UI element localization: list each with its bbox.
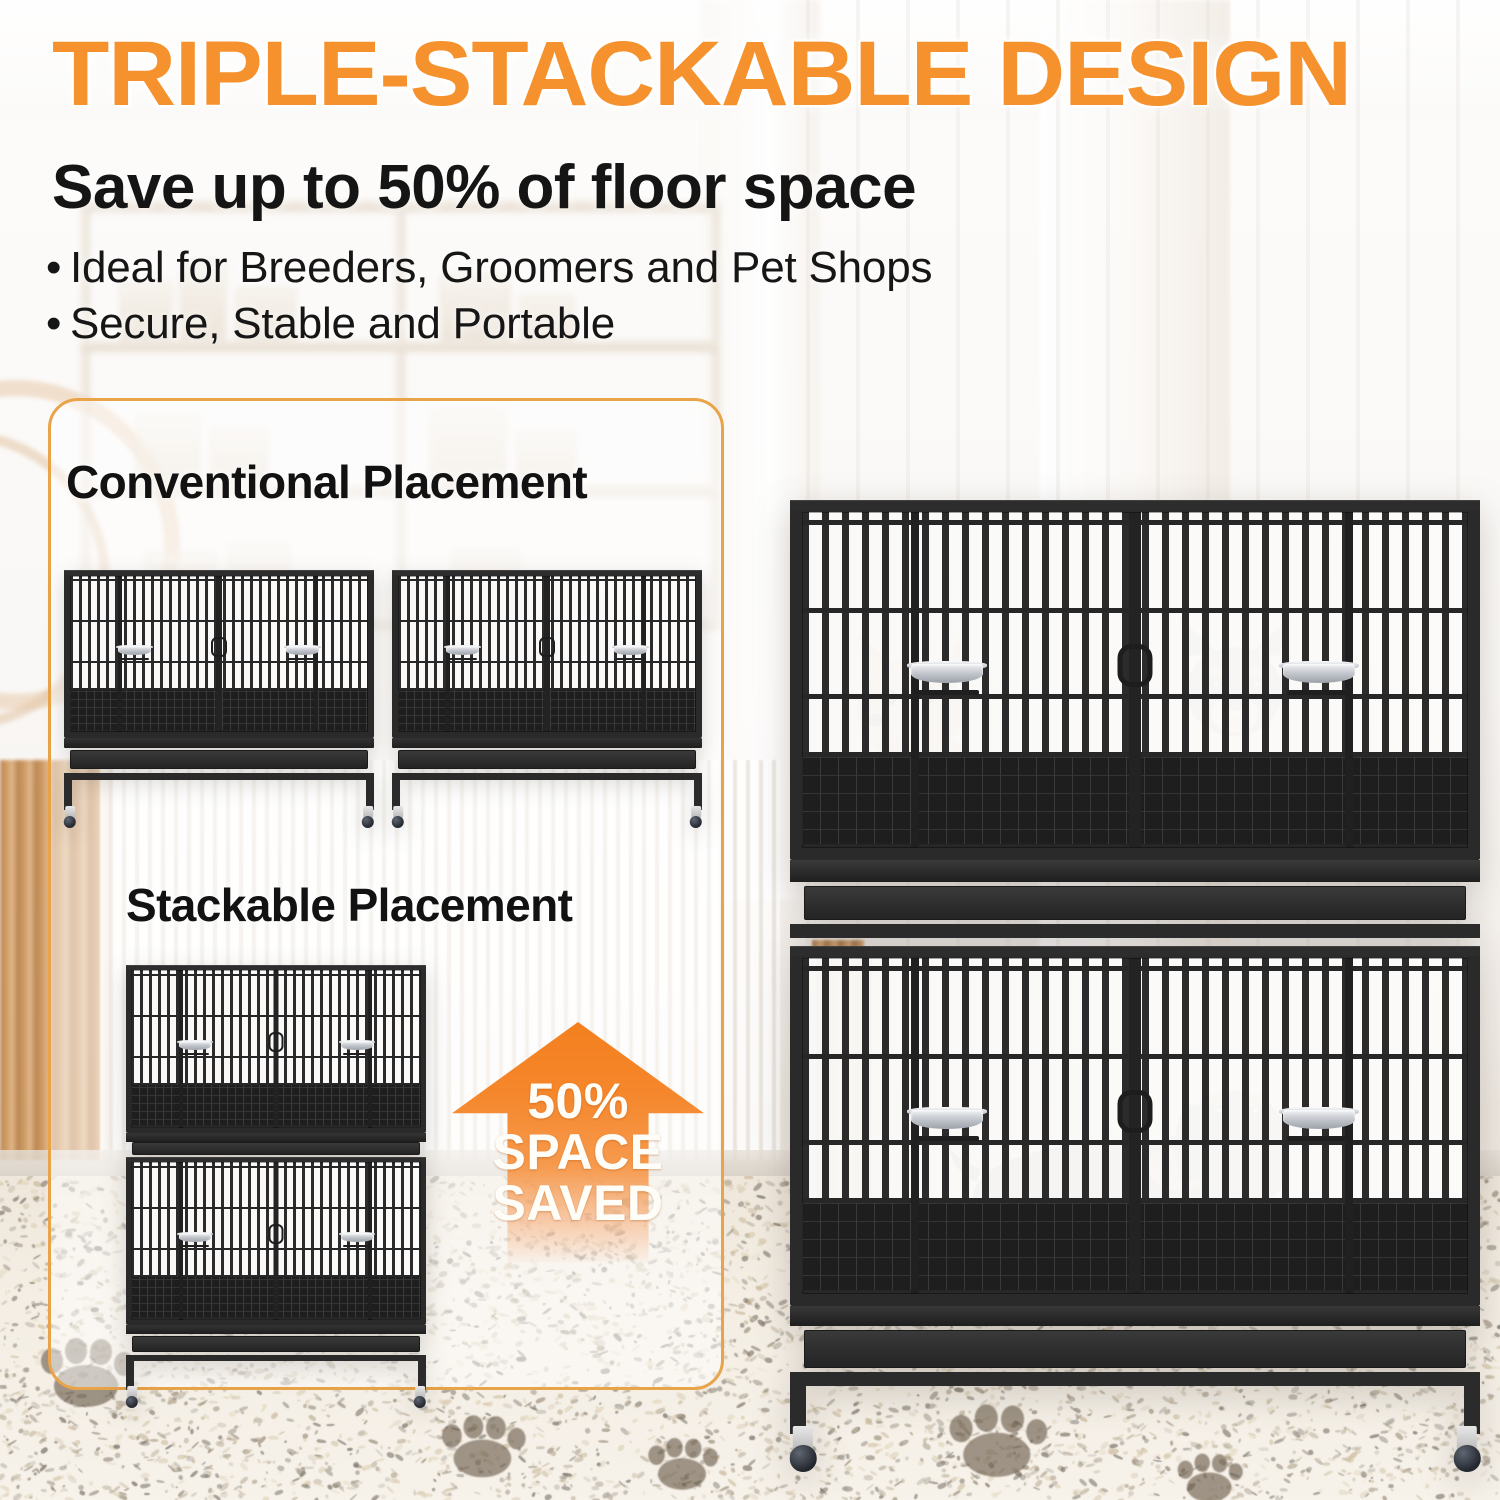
page-title: TRIPLE-STACKABLE DESIGN xyxy=(52,28,1500,120)
pull-out-tray xyxy=(804,886,1466,920)
cage-level-bottom xyxy=(126,1157,426,1325)
caster-wheel xyxy=(412,1386,428,1408)
paw-print-decal xyxy=(432,1408,540,1480)
cage-leg xyxy=(366,773,374,810)
cage-top-ledge xyxy=(126,1157,426,1162)
cage-frame xyxy=(64,570,374,738)
pull-out-tray xyxy=(132,1142,420,1155)
cage-leg xyxy=(126,1355,134,1390)
cage-level-top xyxy=(126,965,426,1133)
caster-wheel xyxy=(1450,1426,1484,1472)
stack-connector xyxy=(790,860,1480,882)
cage-illustration xyxy=(64,570,374,804)
stack-connector xyxy=(126,1133,426,1142)
product-photo-stacked-crate xyxy=(790,500,1480,1420)
food-bowl xyxy=(911,1110,983,1141)
base-rail xyxy=(126,1325,426,1334)
caster-wheel xyxy=(360,806,376,828)
cage-leg xyxy=(694,773,702,810)
list-item: •Secure, Stable and Portable xyxy=(46,296,932,352)
food-bowl xyxy=(179,1041,211,1055)
bottom-frame xyxy=(790,1372,1480,1386)
pull-out-tray xyxy=(132,1336,420,1352)
bullet-text: Secure, Stable and Portable xyxy=(70,299,615,348)
pull-out-tray xyxy=(70,750,368,769)
food-bowl xyxy=(341,1233,373,1247)
section-label-stackable: Stackable Placement xyxy=(126,878,572,932)
cage-leg xyxy=(418,1355,426,1390)
cage-leg xyxy=(64,773,72,810)
feature-bullet-list: •Ideal for Breeders, Groomers and Pet Sh… xyxy=(46,240,932,353)
pull-out-tray xyxy=(804,1330,1466,1368)
section-label-conventional: Conventional Placement xyxy=(66,455,587,509)
food-bowl xyxy=(179,1233,211,1247)
base-rail xyxy=(392,738,702,748)
cage-frame xyxy=(790,500,1480,860)
cage-top-ledge xyxy=(126,965,426,970)
base-rail xyxy=(64,738,374,748)
food-bowl xyxy=(341,1041,373,1055)
space-saved-text: 50% SPACE SAVED xyxy=(452,1076,704,1229)
food-bowl xyxy=(118,646,151,660)
cage-stack-illustration xyxy=(126,965,426,1385)
caster-wheel xyxy=(688,806,704,828)
food-bowl xyxy=(614,646,647,660)
promo-image-root: TRIPLE-STACKABLE DESIGN Save up to 50% o… xyxy=(0,0,1500,1500)
cage-top-ledge xyxy=(790,946,1480,956)
cage-leg xyxy=(392,773,400,810)
food-bowl xyxy=(1283,664,1355,695)
space-saved-badge: 50% SPACE SAVED xyxy=(452,1022,704,1262)
badge-line-1: 50% xyxy=(452,1076,704,1127)
cage-top-ledge xyxy=(392,570,702,575)
bottom-frame xyxy=(126,1355,426,1361)
bottom-frame xyxy=(392,773,702,780)
cage-level-top xyxy=(790,500,1480,860)
cage-frame xyxy=(392,570,702,738)
food-bowl xyxy=(911,664,983,695)
bottom-frame xyxy=(64,773,374,780)
cage-level-bottom xyxy=(790,946,1480,1306)
stack-rail xyxy=(790,924,1480,938)
paw-print-decal xyxy=(1170,1448,1254,1500)
food-bowl xyxy=(1283,1110,1355,1141)
base-rail xyxy=(790,1306,1480,1326)
badge-line-2: SPACE xyxy=(452,1127,704,1178)
cage-top-ledge xyxy=(64,570,374,575)
bullet-marker: • xyxy=(46,296,70,352)
badge-line-3: SAVED xyxy=(452,1178,704,1229)
cage-frame xyxy=(126,1157,426,1325)
food-bowl xyxy=(286,646,319,660)
paw-print-decal xyxy=(640,1432,730,1492)
bullet-marker: • xyxy=(46,240,70,296)
cage-frame xyxy=(790,946,1480,1306)
caster-wheel xyxy=(390,806,406,828)
caster-wheel xyxy=(786,1426,820,1472)
pull-out-tray xyxy=(398,750,696,769)
bullet-text: Ideal for Breeders, Groomers and Pet Sho… xyxy=(70,243,932,292)
caster-wheel xyxy=(124,1386,140,1408)
food-bowl xyxy=(446,646,479,660)
list-item: •Ideal for Breeders, Groomers and Pet Sh… xyxy=(46,240,932,296)
cage-frame xyxy=(126,965,426,1133)
subheading: Save up to 50% of floor space xyxy=(52,152,916,223)
cage-illustration xyxy=(392,570,702,804)
cage-top-ledge xyxy=(790,500,1480,510)
caster-wheel xyxy=(62,806,78,828)
